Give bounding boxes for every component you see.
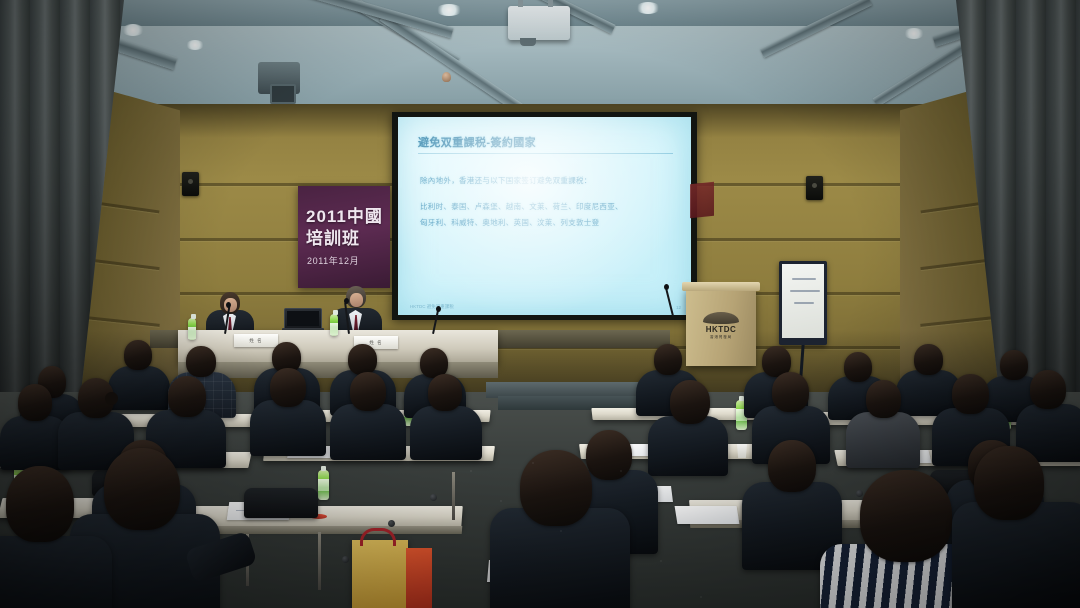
sprinkler-icon bbox=[442, 72, 451, 82]
projection-screen-frame: 避免双重課税-簽約國家 除內地外，香港还与以下国家签订避免双重課税： 比利时、泰… bbox=[392, 112, 697, 320]
table-caster bbox=[430, 494, 437, 501]
table-leg bbox=[318, 532, 321, 590]
podium-top-surface bbox=[682, 282, 760, 291]
wall-speaker-icon bbox=[806, 176, 823, 200]
hktdc-swoosh-icon bbox=[703, 312, 739, 324]
slide-divider bbox=[418, 153, 673, 154]
slide-country-line-2: 匈牙利、科威特、奥地利、英国、汶莱、列支敦士登 bbox=[420, 217, 599, 228]
seminar-room-photo: 避免双重課税-簽約國家 除內地外，香港还与以下国家签订避免双重課税： 比利时、泰… bbox=[0, 0, 1080, 608]
podium: HKTDC 香港貿發局 bbox=[686, 288, 756, 366]
ceiling-downlight bbox=[186, 40, 204, 50]
ceiling-downlight bbox=[122, 24, 144, 36]
flipchart-easel bbox=[779, 261, 827, 345]
carpet-texture bbox=[500, 500, 502, 502]
attendee-head bbox=[654, 344, 682, 375]
carpet-texture bbox=[620, 470, 622, 472]
handout-paper bbox=[675, 506, 740, 524]
flag-decoration bbox=[690, 182, 714, 219]
carpet-texture bbox=[660, 560, 662, 562]
attendee-head bbox=[768, 440, 816, 492]
podium-brand-subtext: 香港貿發局 bbox=[698, 335, 744, 340]
attendee-head bbox=[974, 446, 1044, 520]
attendee-head bbox=[350, 372, 386, 411]
nameplate-left: 姓 名 bbox=[234, 334, 278, 347]
banner-line-2: 培訓班 bbox=[306, 224, 360, 249]
attendee-torso bbox=[108, 366, 170, 410]
table-leg bbox=[452, 472, 455, 520]
projection-screen: 避免双重課税-簽約國家 除內地外，香港还与以下国家签订避免双重課税： 比利时、泰… bbox=[398, 117, 691, 315]
attendee-torso bbox=[250, 400, 326, 456]
attendee-head bbox=[844, 352, 872, 382]
microphone-head-icon bbox=[226, 302, 231, 308]
speaker-face bbox=[350, 293, 363, 307]
attendee-torso bbox=[0, 536, 112, 608]
microphone-head-icon bbox=[344, 298, 349, 304]
attendee-head bbox=[866, 380, 901, 418]
attendee-head bbox=[78, 378, 114, 418]
water-bottle bbox=[188, 318, 196, 340]
attendee-head bbox=[124, 340, 152, 370]
attendee-head bbox=[348, 344, 377, 375]
carpet-texture bbox=[470, 470, 472, 472]
attendee-head bbox=[1000, 350, 1028, 380]
attendee-head bbox=[18, 384, 52, 421]
attendee-head bbox=[914, 344, 943, 375]
audience-chair bbox=[244, 488, 318, 518]
water-bottle bbox=[330, 314, 338, 336]
green-tea-bottle bbox=[318, 470, 329, 500]
bottle-label bbox=[330, 323, 338, 335]
attendee-head bbox=[860, 470, 952, 562]
attendee-torso bbox=[648, 416, 728, 476]
slide-page-number: 12 bbox=[676, 305, 681, 310]
attendee-torso bbox=[330, 404, 406, 460]
flipchart-writing bbox=[794, 302, 814, 304]
head-table bbox=[178, 330, 498, 364]
attendee-head bbox=[428, 374, 462, 411]
attendee-head bbox=[1030, 370, 1066, 409]
table-caster bbox=[388, 520, 395, 527]
attendee-torso bbox=[846, 412, 920, 468]
bottle-label bbox=[188, 327, 196, 339]
attendee-torso bbox=[410, 406, 482, 460]
wall-speaker-icon bbox=[182, 172, 199, 196]
podium-brand-text: HKTDC bbox=[698, 325, 744, 334]
flipchart-writing bbox=[792, 278, 816, 280]
carpet-texture bbox=[532, 462, 534, 464]
shopping-bag-red bbox=[406, 548, 432, 608]
event-banner: 2011中國 培訓班 2011年12月 bbox=[298, 186, 390, 288]
attendee-head bbox=[586, 430, 632, 480]
microphone-head-icon bbox=[436, 306, 441, 312]
slide-country-line-1: 比利时、泰国、卢森堡、越南、文莱、荷兰、印度尼西亚、 bbox=[420, 201, 623, 212]
carpet-texture bbox=[700, 596, 702, 598]
ceiling-mount-bracket bbox=[258, 62, 300, 94]
ceiling-downlight bbox=[636, 2, 660, 14]
laptop-screen bbox=[284, 308, 322, 329]
slide-footer: HKTDC 避免双重課税 bbox=[410, 304, 454, 310]
attendee-head bbox=[772, 372, 809, 412]
flipchart-paper bbox=[782, 264, 824, 338]
ceiling-projector bbox=[508, 6, 570, 40]
attendee-head bbox=[952, 374, 989, 414]
attendee-head bbox=[186, 346, 216, 377]
banner-date: 2011年12月 bbox=[307, 254, 359, 267]
table-caster bbox=[856, 490, 863, 497]
shopping-bag-yellow bbox=[352, 540, 408, 608]
shopping-bag-handle bbox=[360, 528, 396, 546]
ceiling-downlight bbox=[436, 4, 462, 16]
carpet-texture bbox=[560, 530, 562, 532]
attendee-head bbox=[270, 368, 306, 407]
attendee-head bbox=[670, 380, 710, 424]
ceiling-downlight bbox=[904, 28, 924, 39]
table-caster bbox=[342, 556, 349, 563]
bottle-label bbox=[318, 479, 329, 491]
slide-intro-line: 除內地外，香港还与以下国家签订避免双重課税： bbox=[420, 175, 592, 186]
flipchart-writing bbox=[790, 290, 820, 292]
podium-logo: HKTDC 香港貿發局 bbox=[698, 312, 744, 340]
nameplate-left-text: 姓 名 bbox=[234, 334, 278, 347]
podium-microphone-head-icon bbox=[664, 284, 669, 290]
attendee-head bbox=[168, 376, 206, 417]
slide-title: 避免双重課税-簽約國家 bbox=[418, 134, 536, 150]
attendee-head bbox=[104, 448, 180, 530]
attendee-head bbox=[520, 450, 592, 526]
projector-lens-icon bbox=[520, 38, 536, 46]
attendee-head bbox=[6, 466, 74, 542]
